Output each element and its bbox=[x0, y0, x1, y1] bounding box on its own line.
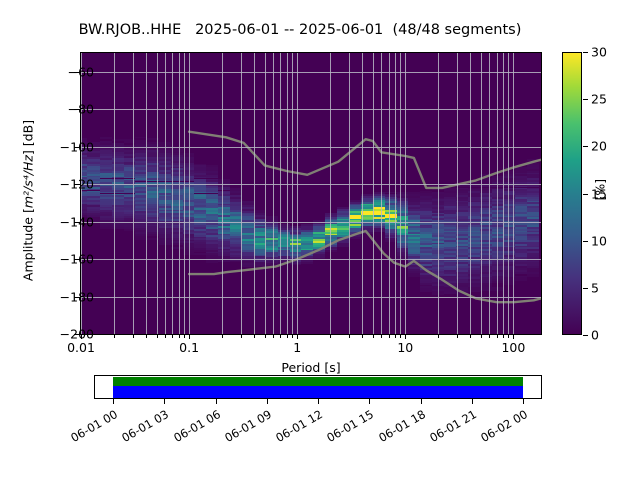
x-axis-tick-label: 100 bbox=[501, 340, 525, 355]
ppsd-figure: BW.RJOB..HHE 2025-06-01 -- 2025-06-01 (4… bbox=[0, 0, 640, 480]
grid-line-vertical bbox=[179, 53, 180, 334]
timeline-tick-label: 06-01 00 bbox=[61, 407, 120, 449]
y-axis-tick-label: −100 bbox=[34, 139, 94, 154]
x-axis-tick-mark bbox=[81, 335, 82, 339]
grid-line-horizontal bbox=[81, 222, 541, 223]
grid-line-vertical bbox=[400, 53, 401, 334]
colorbar-tick-label: 20 bbox=[591, 139, 607, 154]
grid-line-vertical bbox=[508, 53, 509, 334]
grid-line-vertical bbox=[405, 53, 406, 334]
grid-line-horizontal bbox=[81, 184, 541, 185]
x-axis-tick-mark bbox=[381, 335, 382, 338]
x-axis-tick-mark bbox=[179, 335, 180, 338]
x-axis-tick-label: 0.01 bbox=[67, 340, 95, 355]
grid-line-vertical bbox=[146, 53, 147, 334]
x-axis-tick-mark bbox=[254, 335, 255, 338]
grid-line-horizontal bbox=[81, 147, 541, 148]
timeline-tick-mark bbox=[472, 399, 473, 404]
grid-line-vertical bbox=[330, 53, 331, 334]
y-axis-tick-label: −160 bbox=[34, 252, 94, 267]
y-axis-tick-mark bbox=[74, 334, 80, 335]
grid-line-vertical bbox=[481, 53, 482, 334]
grid-line-vertical bbox=[489, 53, 490, 334]
y-axis-tick-mark bbox=[74, 184, 80, 185]
timeline-tick-label: 06-01 12 bbox=[266, 407, 325, 449]
y-axis-tick-label: −140 bbox=[34, 214, 94, 229]
grid-line-horizontal bbox=[81, 297, 541, 298]
x-axis-tick-mark bbox=[265, 335, 266, 338]
y-axis-tick-label: −60 bbox=[34, 64, 94, 79]
timeline-coverage-bar-bottom bbox=[113, 386, 523, 399]
timeline-tick-mark bbox=[164, 399, 165, 404]
figure-title: BW.RJOB..HHE 2025-06-01 -- 2025-06-01 (4… bbox=[0, 22, 600, 38]
grid-line-vertical bbox=[349, 53, 350, 334]
x-axis-tick-mark bbox=[280, 335, 281, 338]
grid-line-horizontal bbox=[81, 259, 541, 260]
grid-line-vertical bbox=[287, 53, 288, 334]
grid-line-horizontal bbox=[81, 109, 541, 110]
noise-model-lines bbox=[81, 53, 541, 334]
x-axis-tick-mark bbox=[184, 335, 185, 338]
x-axis-tick-mark bbox=[273, 335, 274, 338]
colorbar-tick-mark bbox=[583, 52, 588, 53]
x-axis-tick-mark bbox=[157, 335, 158, 338]
y-axis-tick-mark bbox=[74, 72, 80, 73]
x-axis-tick-mark bbox=[114, 335, 115, 338]
x-axis-tick-mark bbox=[292, 335, 293, 338]
ppsd-axes bbox=[80, 52, 542, 335]
nlnm-line bbox=[189, 231, 541, 302]
x-axis-tick-mark bbox=[297, 335, 298, 339]
y-axis-tick-mark bbox=[74, 297, 80, 298]
x-axis-tick-mark bbox=[438, 335, 439, 338]
timeline-tick-mark bbox=[369, 399, 370, 404]
timeline-tick-mark bbox=[216, 399, 217, 404]
grid-line-vertical bbox=[114, 53, 115, 334]
timeline-tick-label: 06-01 18 bbox=[369, 407, 428, 449]
x-axis-tick-mark bbox=[287, 335, 288, 338]
timeline-tick-mark bbox=[523, 399, 524, 404]
timeline-tick-label: 06-01 21 bbox=[420, 407, 479, 449]
timeline-tick-label: 06-02 00 bbox=[471, 407, 530, 449]
colorbar-tick-label: 25 bbox=[591, 92, 607, 107]
x-axis-tick-mark bbox=[497, 335, 498, 338]
x-axis-tick-mark bbox=[133, 335, 134, 338]
grid-line-vertical bbox=[362, 53, 363, 334]
y-axis-tick-label: −120 bbox=[34, 177, 94, 192]
axes-clip bbox=[81, 53, 541, 334]
colorbar-tick-mark bbox=[583, 288, 588, 289]
y-axis-tick-label: −80 bbox=[34, 102, 94, 117]
timeline-tick-mark bbox=[421, 399, 422, 404]
x-axis-tick-mark bbox=[508, 335, 509, 338]
colorbar-label: [%] bbox=[593, 179, 608, 201]
y-axis-tick-label: −180 bbox=[34, 289, 94, 304]
grid-line-vertical bbox=[273, 53, 274, 334]
grid-line-vertical bbox=[172, 53, 173, 334]
colorbar-tick-label: 5 bbox=[591, 280, 599, 295]
x-axis-tick-label: 10 bbox=[397, 340, 413, 355]
y-axis-tick-mark bbox=[74, 147, 80, 148]
colorbar-tick-label: 10 bbox=[591, 233, 607, 248]
grid-line-vertical bbox=[503, 53, 504, 334]
grid-line-vertical bbox=[389, 53, 390, 334]
x-axis-tick-mark bbox=[172, 335, 173, 338]
grid-line-vertical bbox=[470, 53, 471, 334]
x-axis-tick-mark bbox=[241, 335, 242, 338]
grid-line-vertical bbox=[513, 53, 514, 334]
grid-line-vertical bbox=[497, 53, 498, 334]
grid-line-vertical bbox=[265, 53, 266, 334]
x-axis-tick-label: 0.1 bbox=[179, 340, 199, 355]
x-axis-tick-label: 1 bbox=[293, 340, 301, 355]
x-axis-tick-mark bbox=[389, 335, 390, 338]
grid-line-vertical bbox=[438, 53, 439, 334]
colorbar-tick-mark bbox=[583, 146, 588, 147]
nhnm-line bbox=[189, 132, 541, 188]
y-axis-tick-mark bbox=[74, 109, 80, 110]
colorbar-tick-mark bbox=[583, 335, 588, 336]
colorbar-tick-mark bbox=[583, 241, 588, 242]
timeline-tick-label: 06-01 06 bbox=[164, 407, 223, 449]
x-axis-tick-mark bbox=[395, 335, 396, 338]
colorbar-tick-mark bbox=[583, 194, 588, 195]
y-axis-label-prefix: Amplitude [ bbox=[21, 208, 36, 281]
grid-line-vertical bbox=[280, 53, 281, 334]
x-axis-tick-mark bbox=[470, 335, 471, 338]
grid-line-vertical bbox=[241, 53, 242, 334]
y-axis-tick-mark bbox=[74, 259, 80, 260]
y-axis-tick-mark bbox=[74, 222, 80, 223]
x-axis-tick-mark bbox=[373, 335, 374, 338]
colorbar bbox=[562, 52, 582, 335]
grid-line-vertical bbox=[133, 53, 134, 334]
grid-line-vertical bbox=[381, 53, 382, 334]
timeline-tick-label: 06-01 09 bbox=[215, 407, 274, 449]
x-axis-tick-mark bbox=[330, 335, 331, 338]
grid-line-horizontal bbox=[81, 72, 541, 73]
grid-line-vertical bbox=[373, 53, 374, 334]
grid-line-vertical bbox=[189, 53, 190, 334]
x-axis-tick-mark bbox=[146, 335, 147, 338]
grid-line-vertical bbox=[184, 53, 185, 334]
grid-line-vertical bbox=[254, 53, 255, 334]
grid-line-vertical bbox=[222, 53, 223, 334]
grid-line-vertical bbox=[297, 53, 298, 334]
x-axis-tick-mark bbox=[362, 335, 363, 338]
x-axis-tick-mark bbox=[189, 335, 190, 339]
colorbar-tick-label: 0 bbox=[591, 328, 599, 343]
colorbar-tick-mark bbox=[583, 99, 588, 100]
grid-line-vertical bbox=[157, 53, 158, 334]
x-axis-tick-mark bbox=[222, 335, 223, 338]
colorbar-tick-label: 30 bbox=[591, 45, 607, 60]
x-axis-tick-mark bbox=[457, 335, 458, 338]
y-axis-label: Amplitude [m²/s⁴/Hz] [dB] bbox=[21, 51, 36, 351]
x-axis-label: Period [s] bbox=[80, 360, 542, 375]
timeline-tick-mark bbox=[267, 399, 268, 404]
timeline-coverage-bar-top bbox=[113, 377, 523, 386]
x-axis-tick-mark bbox=[400, 335, 401, 338]
grid-line-vertical bbox=[292, 53, 293, 334]
y-axis-label-units: m²/s⁴/Hz bbox=[21, 155, 36, 208]
timeline-tick-label: 06-01 03 bbox=[112, 407, 171, 449]
y-axis-label-suffix: ] [dB] bbox=[21, 120, 36, 155]
x-axis-tick-mark bbox=[349, 335, 350, 338]
x-axis-tick-mark bbox=[503, 335, 504, 338]
x-axis-tick-mark bbox=[481, 335, 482, 338]
x-axis-tick-mark bbox=[405, 335, 406, 339]
x-axis-tick-mark bbox=[489, 335, 490, 338]
grid-line-vertical bbox=[165, 53, 166, 334]
grid-line-vertical bbox=[395, 53, 396, 334]
grid-line-vertical bbox=[457, 53, 458, 334]
x-axis-tick-mark bbox=[513, 335, 514, 339]
timeline-tick-label: 06-01 15 bbox=[317, 407, 376, 449]
timeline-tick-mark bbox=[318, 399, 319, 404]
timeline-tick-mark bbox=[113, 399, 114, 404]
x-axis-tick-mark bbox=[165, 335, 166, 338]
